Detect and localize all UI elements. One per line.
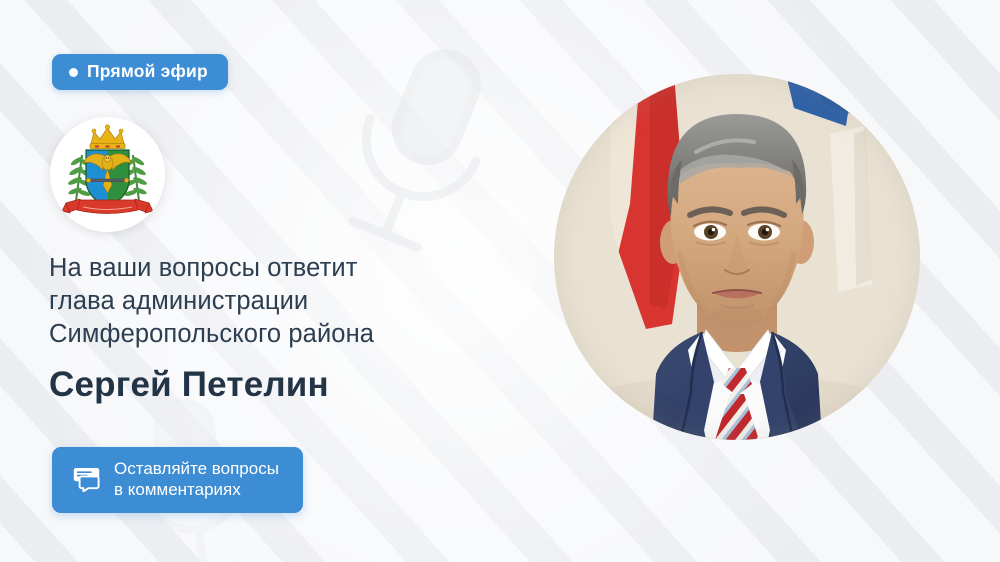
- headline: На ваши вопросы ответит глава администра…: [49, 252, 479, 351]
- comments-line-1: Оставляйте вопросы: [114, 459, 279, 478]
- headline-line-3: Симферопольского района: [49, 318, 479, 351]
- person-photo: [554, 74, 920, 440]
- comment-bubbles-icon: [72, 467, 100, 492]
- headline-line-1: На ваши вопросы ответит: [49, 252, 479, 285]
- live-badge[interactable]: Прямой эфир: [52, 54, 228, 90]
- leave-questions-button[interactable]: Оставляйте вопросыв комментариях: [52, 447, 303, 513]
- broadcast-announcement-card: Прямой эфир: [0, 0, 1000, 562]
- coat-of-arms-icon: [50, 117, 165, 232]
- live-dot-icon: [69, 68, 78, 77]
- leave-questions-label: Оставляйте вопросыв комментариях: [114, 458, 279, 501]
- comments-line-2: в комментариях: [114, 480, 241, 499]
- live-badge-label: Прямой эфир: [87, 63, 208, 81]
- headline-line-2: глава администрации: [49, 285, 479, 318]
- person-name: Сергей Петелин: [49, 366, 519, 405]
